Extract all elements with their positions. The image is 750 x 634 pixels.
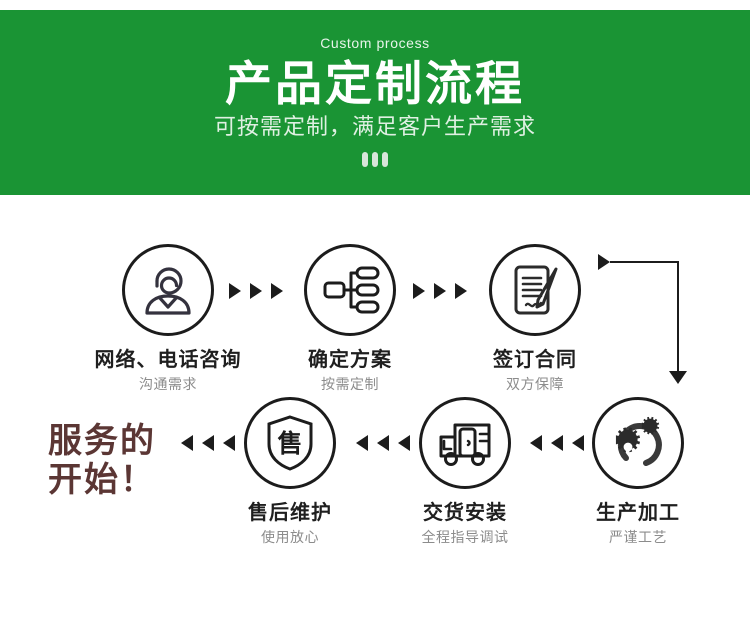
process-flow-diagram: 网络、电话咨询 沟通需求 确定方案 按需定制: [0, 195, 750, 634]
divider-bar-2: [372, 152, 378, 167]
service-start-label: 服务的 开始！: [48, 422, 156, 500]
page-banner: Custom process 产品定制流程 可按需定制，满足客户生产需求: [0, 10, 750, 195]
service-start-line2: 开始！: [48, 461, 156, 500]
arrow-left-icon: [181, 435, 193, 451]
gears-icon: [606, 411, 670, 475]
step-node-delivery[interactable]: 交货安装 全程指导调试: [385, 397, 545, 545]
shield-aftersales-icon: 售: [258, 411, 322, 475]
step-6-title: 售后维护: [210, 502, 370, 524]
arrow-left-icon: [356, 435, 368, 451]
banner-divider-dots: [362, 152, 388, 167]
step-5-title: 交货安装: [385, 502, 545, 524]
page-title: 产品定制流程: [225, 59, 525, 108]
connector-vertical-line: [677, 261, 679, 373]
step-6-circle: 售: [244, 397, 336, 489]
connector-horizontal-line: [610, 261, 679, 263]
top-white-strip: [0, 0, 750, 10]
step-5-subtitle: 全程指导调试: [385, 530, 545, 545]
divider-bar-1: [362, 152, 368, 167]
arrow-down-icon: [669, 371, 687, 384]
gear-large-hub: [624, 443, 633, 452]
service-start-line1: 服务的: [48, 422, 156, 461]
step-6-subtitle: 使用放心: [210, 530, 370, 545]
gear-small-hub: [644, 434, 650, 440]
step-4-circle: [592, 397, 684, 489]
banner-subtitle: 可按需定制，满足客户生产需求: [214, 115, 536, 139]
arrow-right-icon: [598, 254, 610, 270]
delivery-truck-icon: [434, 412, 496, 474]
step-4-subtitle: 严谨工艺: [558, 530, 718, 545]
step-node-production[interactable]: 生产加工 严谨工艺: [558, 397, 718, 545]
arrow-left-icon: [530, 435, 542, 451]
shield-glyph: 售: [277, 429, 302, 458]
banner-eyebrow: Custom process: [320, 36, 430, 50]
divider-bar-3: [382, 152, 388, 167]
step-node-aftersales[interactable]: 售 售后维护 使用放心: [210, 397, 370, 545]
gear-small: [642, 417, 659, 435]
step-5-circle: [419, 397, 511, 489]
step-4-title: 生产加工: [558, 502, 718, 524]
